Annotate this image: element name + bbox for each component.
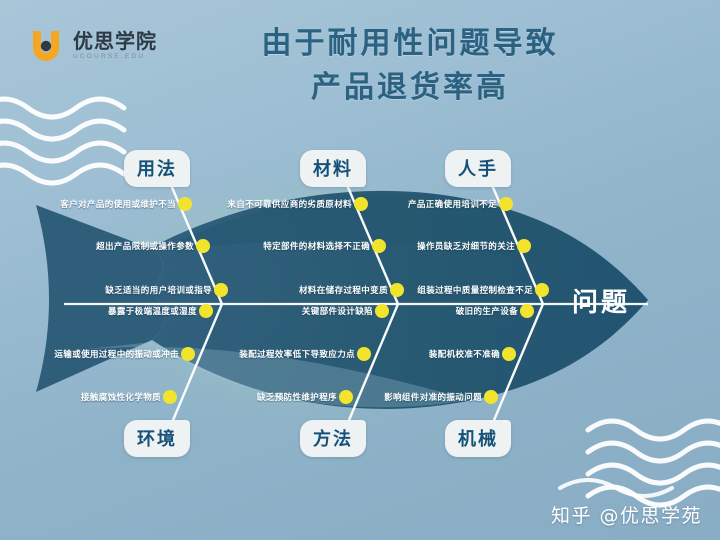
category-pill-manpower[interactable]: 人手 <box>445 150 511 187</box>
wave-decoration-watermark <box>560 480 672 496</box>
bone-node <box>339 390 353 404</box>
bone-node <box>499 197 513 211</box>
category-pill-method[interactable]: 方法 <box>300 420 366 457</box>
cause-manpower-2: 操作员缺乏对细节的关注 <box>417 240 515 252</box>
bone-node <box>520 304 534 318</box>
cause-usage-3: 缺乏适当的用户培训或指导 <box>105 284 212 296</box>
bone-node <box>214 283 228 297</box>
bone-node <box>517 239 531 253</box>
cause-manpower-1: 产品正确使用培训不足 <box>408 198 497 210</box>
bone-node <box>163 390 177 404</box>
bone-node <box>372 239 386 253</box>
cause-environment-1: 暴露于极端温度或湿度 <box>108 305 197 317</box>
category-pill-environment[interactable]: 环境 <box>124 420 190 457</box>
bone-node <box>484 390 498 404</box>
bottom-watermark: 知乎 @优思学苑 <box>551 501 702 528</box>
fish-tail <box>36 205 165 392</box>
cause-method-3: 缺乏预防性维护程序 <box>257 391 337 403</box>
bone-node <box>357 347 371 361</box>
fishbone-diagram-canvas: 优思学院 <box>0 0 720 540</box>
category-pill-machine[interactable]: 机械 <box>445 420 511 457</box>
brand-name-cn: 优思学院 <box>73 31 157 51</box>
bone-node-group <box>163 197 549 404</box>
cause-manpower-3: 组装过程中质量控制检查不足 <box>417 284 533 296</box>
cause-method-2: 装配过程效率低下导致应力点 <box>239 348 355 360</box>
cause-material-3: 材料在储存过程中变质 <box>299 284 388 296</box>
brand-logo: 优思学院 UCOURSE.EDU <box>26 26 157 66</box>
bone-node <box>390 283 404 297</box>
bone-node <box>535 283 549 297</box>
cause-method-1: 关键部件设计缺陷 <box>302 305 373 317</box>
title-line-2: 产品退货率高 <box>200 66 620 110</box>
cause-environment-3: 接触腐蚀性化学物质 <box>81 391 161 403</box>
cause-usage-1: 客户对产品的使用或维护不当 <box>60 198 176 210</box>
cause-machine-3: 影响组件对准的振动问题 <box>384 391 482 403</box>
page-title: 由于耐用性问题导致 产品退货率高 <box>200 22 620 109</box>
category-pill-material[interactable]: 材料 <box>300 150 366 187</box>
cause-machine-2: 装配机校准不准确 <box>429 348 500 360</box>
wave-decoration-bottom-right <box>588 421 720 505</box>
cause-material-1: 来自不可靠供应商的劣质原材料 <box>227 198 352 210</box>
bone-node <box>354 197 368 211</box>
bone-machine <box>489 304 543 432</box>
brand-name-en: UCOURSE.EDU <box>73 54 157 61</box>
problem-label: 问题 <box>572 282 630 319</box>
category-pill-usage[interactable]: 用法 <box>124 150 190 187</box>
bone-node <box>181 347 195 361</box>
bone-method <box>344 304 398 432</box>
title-line-1: 由于耐用性问题导致 <box>200 22 620 66</box>
bone-node <box>375 304 389 318</box>
u-logo-icon <box>26 26 66 66</box>
cause-usage-2: 超出产品限制或操作参数 <box>96 240 194 252</box>
cause-machine-1: 破旧的生产设备 <box>456 305 518 317</box>
cause-environment-2: 运输或使用过程中的振动或冲击 <box>54 348 179 360</box>
cause-material-2: 特定部件的材料选择不正确 <box>263 240 370 252</box>
bone-node <box>196 239 210 253</box>
bone-node <box>502 347 516 361</box>
bone-node <box>199 304 213 318</box>
wave-decoration-top-left <box>0 99 124 183</box>
bone-environment <box>168 304 222 432</box>
bone-node <box>178 197 192 211</box>
